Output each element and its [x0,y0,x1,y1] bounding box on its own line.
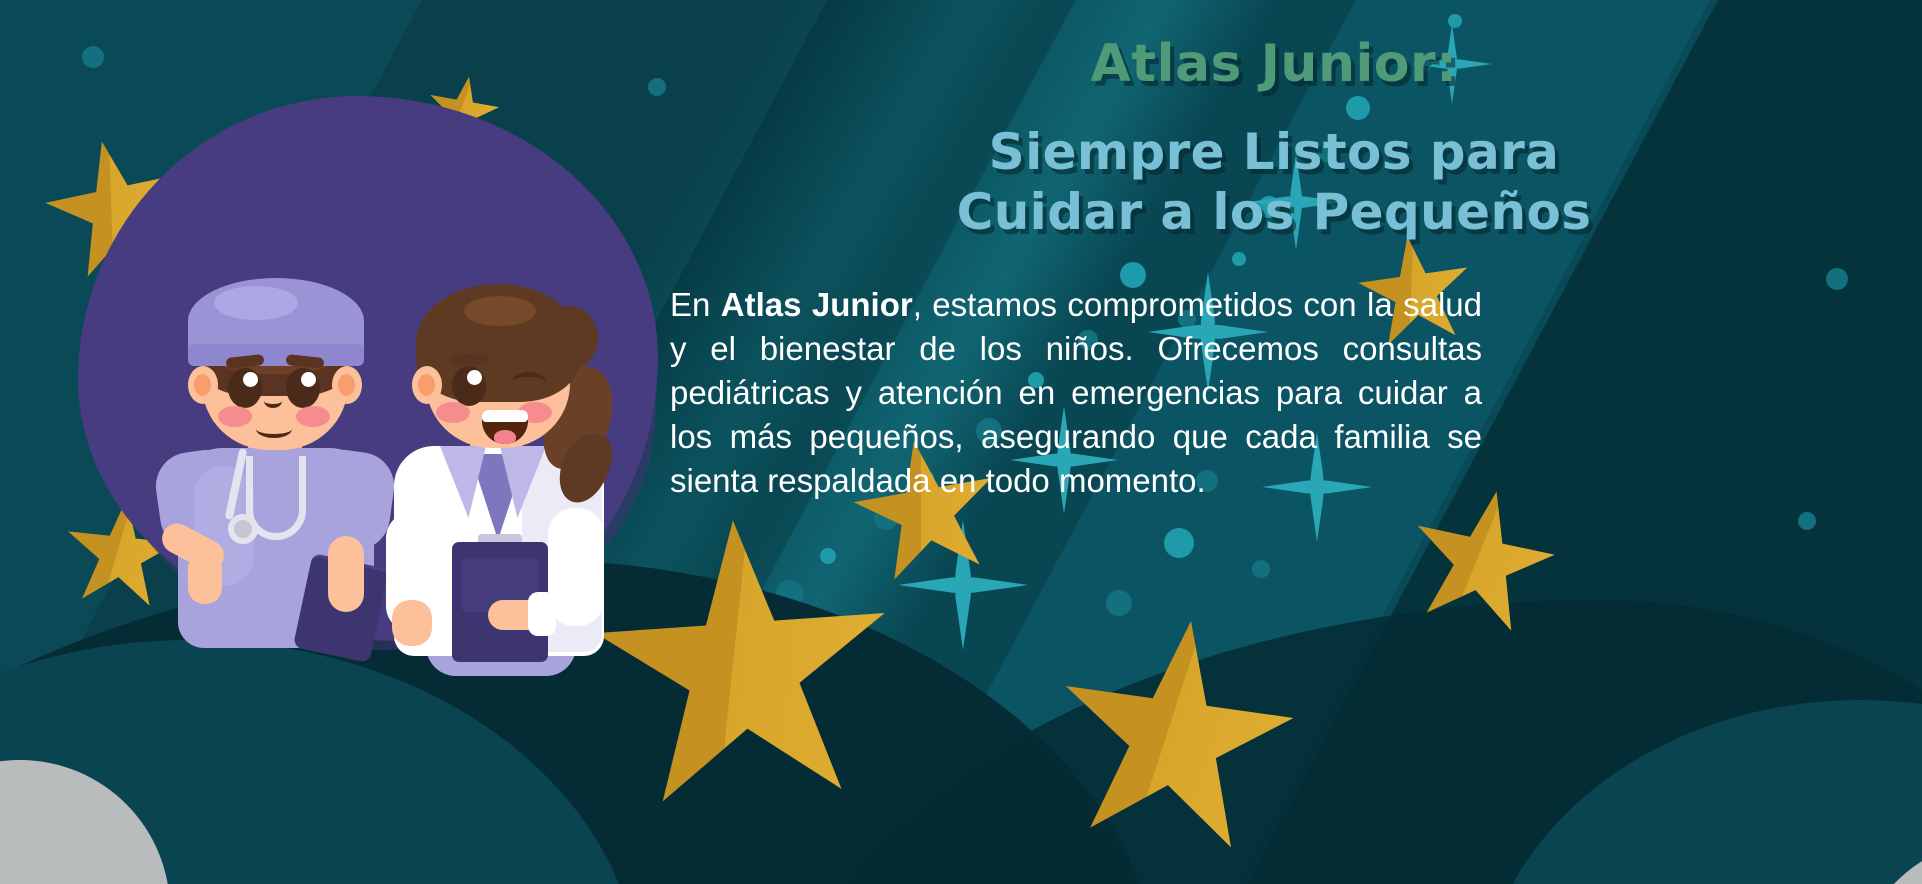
boy-mouth [256,420,292,438]
boy-ear-right [332,366,362,404]
boy-cheek-left [218,406,252,427]
girl-arm-right [548,508,604,626]
girl-teeth [482,410,528,422]
boy-pediatrician-illustration [150,270,400,660]
banner-title: Atlas Junior: [668,34,1880,94]
banner-subtitle-line-1: Siempre Listos para [668,122,1880,182]
boy-cheek-right [296,406,330,427]
banner-root: Atlas Junior: Siempre Listos para Cuidar… [0,0,1922,884]
sparkle-dot [648,78,666,96]
banner-subtitle-line-2: Cuidar a los Pequeños [668,182,1880,242]
girl-cheek-left [436,402,470,423]
boy-nose [264,394,282,408]
girl-pediatrician-illustration [372,262,622,662]
boy-arm-right [328,536,364,612]
boy-eye-right [286,368,320,408]
boy-eye-left [228,368,262,408]
girl-tongue [494,430,516,444]
text-column: Atlas Junior: Siempre Listos para Cuidar… [668,0,1880,884]
boy-forearm-left [188,552,222,604]
banner-subtitle: Siempre Listos para Cuidar a los Pequeño… [668,122,1880,242]
boy-cap-highlight [214,286,298,320]
girl-hair-highlight [464,296,536,326]
body-lead: En [670,286,721,323]
boy-ear-left [188,366,218,404]
girl-hair-bun [538,306,598,370]
sparkle-dot [82,46,104,68]
girl-eye-right-wink [512,372,546,392]
stethoscope-chestpiece [228,514,258,544]
boy-cap-band [188,344,364,366]
girl-ear-left [412,366,442,404]
body-brand: Atlas Junior [721,286,913,323]
girl-hand-left [392,600,432,646]
banner-body-text: En Atlas Junior, estamos comprometidos c… [670,283,1482,503]
girl-cuff-right [528,592,556,636]
girl-eye-left [452,366,486,406]
